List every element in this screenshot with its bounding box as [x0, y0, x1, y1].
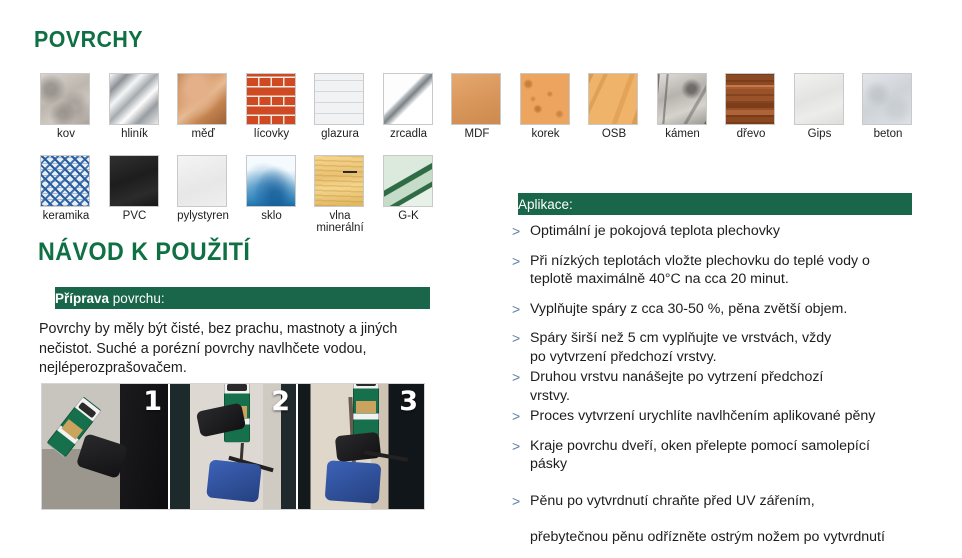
- application-bullet-item: >Pěnu po vytvrdnutí chraňte před UV záře…: [512, 492, 916, 511]
- application-bullet-item: >Proces vytvrzení urychlíte navlhčením a…: [512, 407, 916, 426]
- application-bullet-text: Vyplňujte spáry z cca 30-50 %, pěna zvět…: [530, 300, 847, 319]
- surface-texture-icon: [383, 73, 433, 125]
- surface-swatch-2-3[interactable]: sklo: [246, 155, 298, 222]
- surface-texture-icon: [177, 73, 227, 125]
- surface-swatch-1[interactable]: hliník: [109, 73, 161, 140]
- can-cap: [227, 384, 247, 391]
- photo-step-number-2: 2: [271, 386, 290, 417]
- surface-swatch-0[interactable]: kov: [40, 73, 92, 140]
- application-bullet-list: >Optimální je pokojová teplota plechovky…: [512, 222, 916, 558]
- surface-label: beton: [862, 128, 914, 140]
- can-label: [356, 401, 376, 413]
- surface-swatch-2[interactable]: měď: [177, 73, 229, 140]
- page-title-surfaces: POVRCHY: [34, 26, 143, 53]
- surface-label: keramika: [40, 210, 92, 222]
- slide-root: POVRCHY kovhliníkměďlícovkyglazurazrcadl…: [0, 0, 962, 538]
- application-bullet-text: přebytečnou pěnu odřízněte ostrým nožem …: [530, 528, 885, 547]
- surface-swatch-9[interactable]: kámen: [657, 73, 709, 140]
- glove-icon: [335, 432, 381, 462]
- surface-swatch-4[interactable]: glazura: [314, 73, 366, 140]
- surface-label: G-K: [383, 210, 435, 222]
- surface-label: kov: [40, 128, 92, 140]
- photo-step-2: 2: [170, 384, 298, 509]
- section-header-preparation-label: Příprava povrchu:: [55, 291, 165, 306]
- surface-swatch-6[interactable]: MDF: [451, 73, 503, 140]
- surface-texture-icon: [862, 73, 912, 125]
- application-bullet-item: >Při nízkých teplotách vložte plechovku …: [512, 252, 916, 289]
- surface-label: lícovky: [246, 128, 298, 140]
- surface-texture-icon: [725, 73, 775, 125]
- bullet-chevron-icon: >: [512, 252, 530, 271]
- surface-label: vlna minerální: [314, 210, 366, 234]
- surface-label: hliník: [109, 128, 161, 140]
- blue-glove-icon: [324, 460, 381, 504]
- application-bullet-item: >Optimální je pokojová teplota plechovky: [512, 222, 916, 241]
- surface-swatch-2-4[interactable]: vlna minerální: [314, 155, 366, 234]
- surface-label: OSB: [588, 128, 640, 140]
- bullet-chevron-icon: >: [512, 368, 530, 387]
- application-bullet-text: Pěnu po vytvrdnutí chraňte před UV zářen…: [530, 492, 815, 511]
- application-bullet-text: Při nízkých teplotách vložte plechovku d…: [530, 252, 870, 289]
- surface-texture-icon: [246, 73, 296, 125]
- surface-label: MDF: [451, 128, 503, 140]
- photo-step-number-3: 3: [399, 386, 418, 417]
- application-bullet-item: >Druhou vrstvu nanášejte po vytrzení pře…: [512, 368, 916, 405]
- can-cap: [78, 401, 96, 418]
- application-photo-strip: 1 2 3: [41, 383, 425, 510]
- section-header-preparation: Příprava povrchu:: [38, 287, 430, 309]
- section-header-application-label: Aplikace:: [518, 197, 573, 212]
- can-cap: [356, 384, 376, 386]
- surface-swatch-2-1[interactable]: PVC: [109, 155, 161, 222]
- surface-label: glazura: [314, 128, 366, 140]
- application-bullet-text: Proces vytvrzení urychlíte navlhčením ap…: [530, 407, 875, 426]
- surface-swatch-3[interactable]: lícovky: [246, 73, 298, 140]
- surface-texture-icon: [246, 155, 296, 207]
- surface-label: PVC: [109, 210, 161, 222]
- surface-swatch-8[interactable]: OSB: [588, 73, 640, 140]
- surface-texture-icon: [383, 155, 433, 207]
- surface-texture-icon: [314, 155, 364, 207]
- surface-texture-icon: [794, 73, 844, 125]
- surface-texture-icon: [109, 73, 159, 125]
- surface-swatch-2-5[interactable]: G-K: [383, 155, 435, 222]
- application-bullet-item: >Vyplňujte spáry z cca 30-50 %, pěna zvě…: [512, 300, 916, 319]
- photo-step-number-1: 1: [143, 386, 162, 417]
- surface-texture-icon: [40, 155, 90, 207]
- application-bullet-text: Spáry širší než 5 cm vyplňujte ve vrstvá…: [530, 329, 831, 366]
- surface-label: dřevo: [725, 128, 777, 140]
- surface-texture-icon: [657, 73, 707, 125]
- surface-swatch-2-0[interactable]: keramika: [40, 155, 92, 222]
- surface-texture-icon: [520, 73, 570, 125]
- surface-label: Gips: [794, 128, 846, 140]
- section-header-application: Aplikace:: [508, 193, 912, 215]
- can-label: [62, 419, 84, 440]
- bullet-chevron-icon: >: [512, 437, 530, 456]
- surface-label: kámen: [657, 128, 709, 140]
- surface-label: korek: [520, 128, 572, 140]
- preparation-body-text: Povrchy by měly být čisté, bez prachu, m…: [39, 320, 439, 379]
- application-bullet-text: Kraje povrchu dveří, oken přelepte pomoc…: [530, 437, 870, 474]
- surface-swatch-12[interactable]: beton: [862, 73, 914, 140]
- surface-texture-icon: [588, 73, 638, 125]
- bullet-chevron-icon: >: [512, 222, 530, 241]
- section-header-preparation-bold: Příprava: [55, 291, 109, 306]
- surface-swatch-7[interactable]: korek: [520, 73, 572, 140]
- surface-swatch-11[interactable]: Gips: [794, 73, 846, 140]
- photo-step-3: 3: [298, 384, 424, 509]
- surface-swatch-5[interactable]: zrcadla: [383, 73, 435, 140]
- surface-texture-icon: [314, 73, 364, 125]
- band-left-spacer: [508, 193, 518, 215]
- surface-label: sklo: [246, 210, 298, 222]
- application-bullet-item: >Spáry širší než 5 cm vyplňujte ve vrstv…: [512, 329, 916, 366]
- surface-texture-icon: [109, 155, 159, 207]
- application-bullet-text: Optimální je pokojová teplota plechovky: [530, 222, 780, 241]
- application-bullet-item: přebytečnou pěnu odřízněte ostrým nožem …: [512, 528, 916, 547]
- bullet-chevron-icon: >: [512, 492, 530, 511]
- surface-label: pylystyren: [177, 210, 229, 222]
- surface-label: měď: [177, 128, 229, 140]
- surface-texture-icon: [177, 155, 227, 207]
- foam-can-icon: [353, 384, 379, 438]
- surface-texture-icon: [40, 73, 90, 125]
- application-bullet-text: Druhou vrstvu nanášejte po vytrzení před…: [530, 368, 823, 405]
- bullet-chevron-icon: >: [512, 407, 530, 426]
- application-bullet-item: >Kraje povrchu dveří, oken přelepte pomo…: [512, 437, 916, 474]
- bullet-chevron-icon: >: [512, 329, 530, 348]
- surface-swatch-10[interactable]: dřevo: [725, 73, 777, 140]
- blue-glove-icon: [206, 459, 262, 502]
- surface-swatch-2-2[interactable]: pylystyren: [177, 155, 229, 222]
- band-left-spacer: [38, 287, 55, 309]
- section-header-preparation-rest: povrchu:: [109, 291, 165, 306]
- surface-texture-icon: [451, 73, 501, 125]
- bullet-chevron-icon: >: [512, 300, 530, 319]
- page-title-guide: NÁVOD K POUŽITÍ: [38, 238, 250, 267]
- photo-step-1: 1: [42, 384, 170, 509]
- surface-label: zrcadla: [383, 128, 435, 140]
